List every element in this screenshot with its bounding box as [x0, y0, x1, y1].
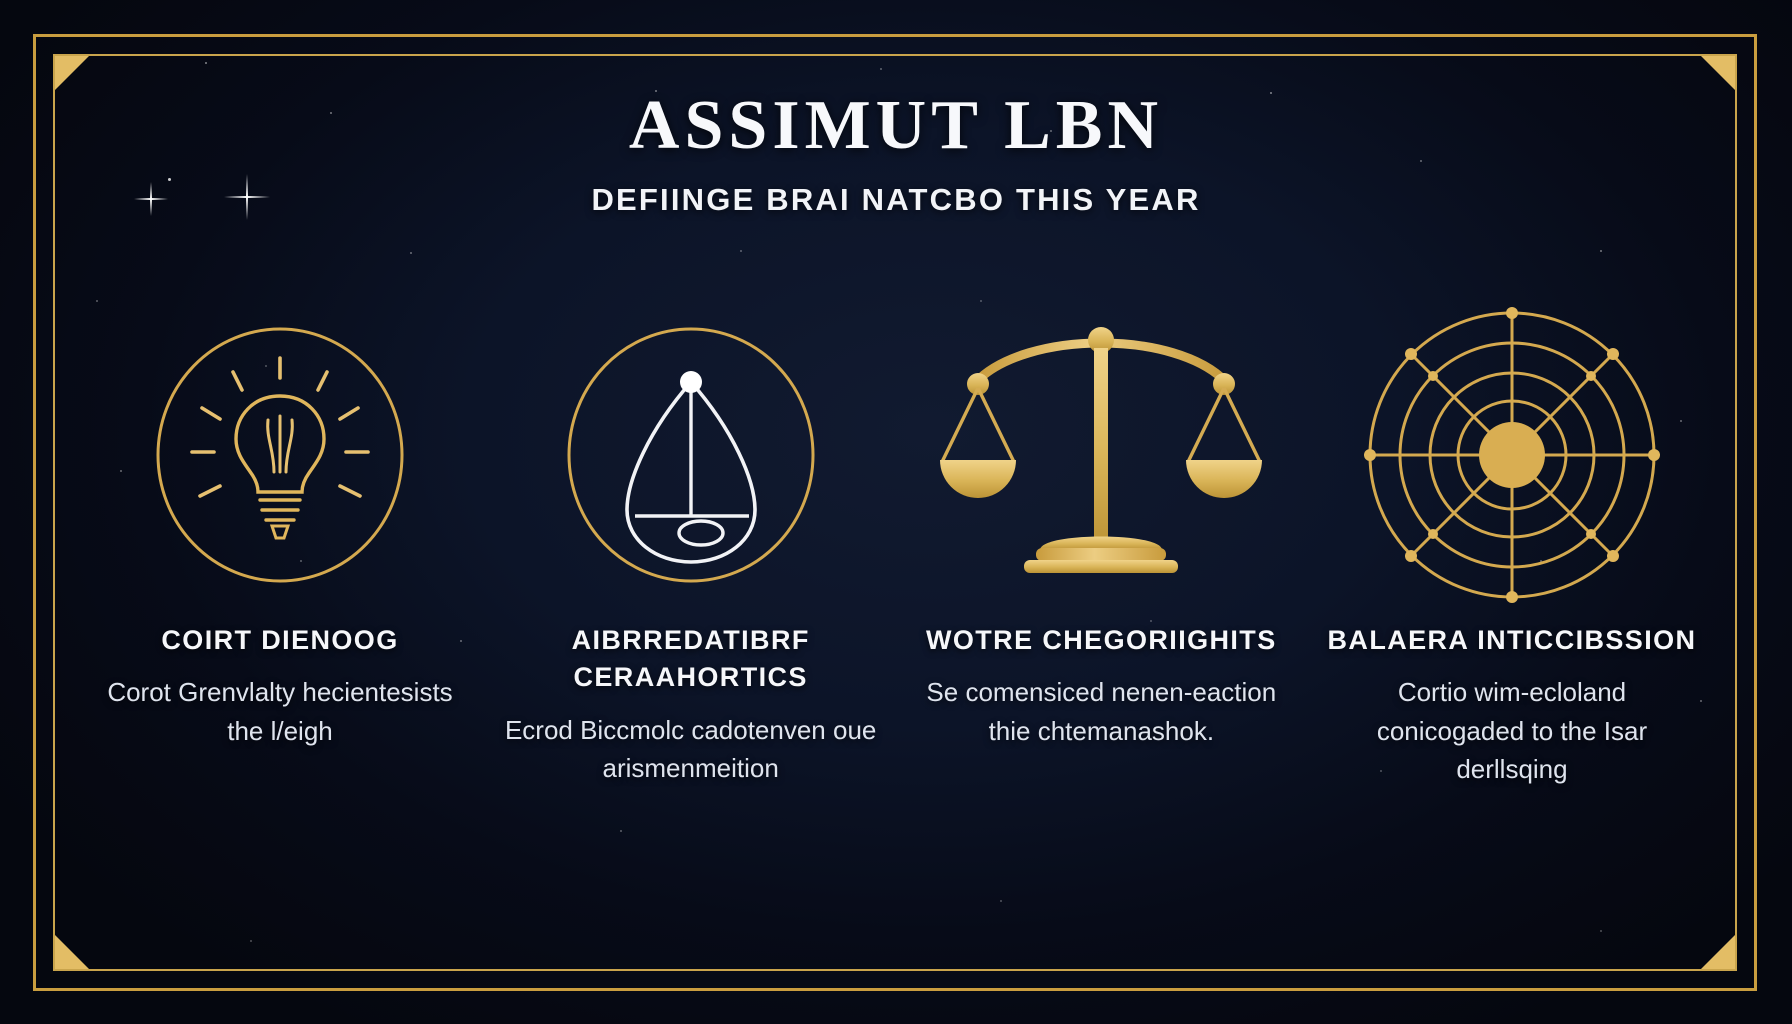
feature-body: Corot Grenvlalty hecientesists the l/eig… [90, 673, 470, 750]
icon-container [911, 310, 1291, 600]
poster-canvas: ASSIMUT LBN DEFIINGE BRAI NATCBO THIS YE… [0, 0, 1792, 1024]
feature-body: Cortio wim-ecloland conicogaded to the I… [1322, 673, 1702, 788]
feature-heading: AIBRREDATIBRF CERAAHORTICS [501, 622, 881, 697]
lightbulb-icon [150, 320, 410, 590]
corner-ornament-bottom-right [1701, 935, 1735, 969]
corner-ornament-top-left [55, 56, 89, 90]
feature-column: WOTRE CHEGORIIGHITS Se comensiced nenen-… [911, 310, 1291, 750]
icon-container [501, 310, 881, 600]
feature-column: COIRT DIENOOG Corot Grenvlalty hecientes… [90, 310, 470, 750]
balance-scales-icon [936, 310, 1266, 600]
pendulum-icon [561, 320, 821, 590]
feature-column: AIBRREDATIBRF CERAAHORTICS Ecrod Biccmol… [501, 310, 881, 787]
astrolabe-wheel-icon [1362, 305, 1662, 605]
icon-container [90, 310, 470, 600]
icon-container [1322, 310, 1702, 600]
poster-title: ASSIMUT LBN [0, 86, 1792, 166]
poster-subtitle: DEFIINGE BRAI NATCBO THIS YEAR [0, 182, 1792, 218]
feature-body: Ecrod Biccmolc cadotenven oue arismenmei… [501, 711, 881, 788]
corner-ornament-bottom-left [55, 935, 89, 969]
feature-body: Se comensiced nenen-eaction thie chteman… [911, 673, 1291, 750]
feature-heading: WOTRE CHEGORIIGHITS [926, 622, 1277, 659]
corner-ornament-top-right [1701, 56, 1735, 90]
feature-column: BALAERA INTICCIBSSION Cortio wim-eclolan… [1322, 310, 1702, 789]
feature-columns: COIRT DIENOOG Corot Grenvlalty hecientes… [90, 310, 1702, 789]
feature-heading: BALAERA INTICCIBSSION [1328, 622, 1697, 659]
feature-heading: COIRT DIENOOG [161, 622, 398, 659]
